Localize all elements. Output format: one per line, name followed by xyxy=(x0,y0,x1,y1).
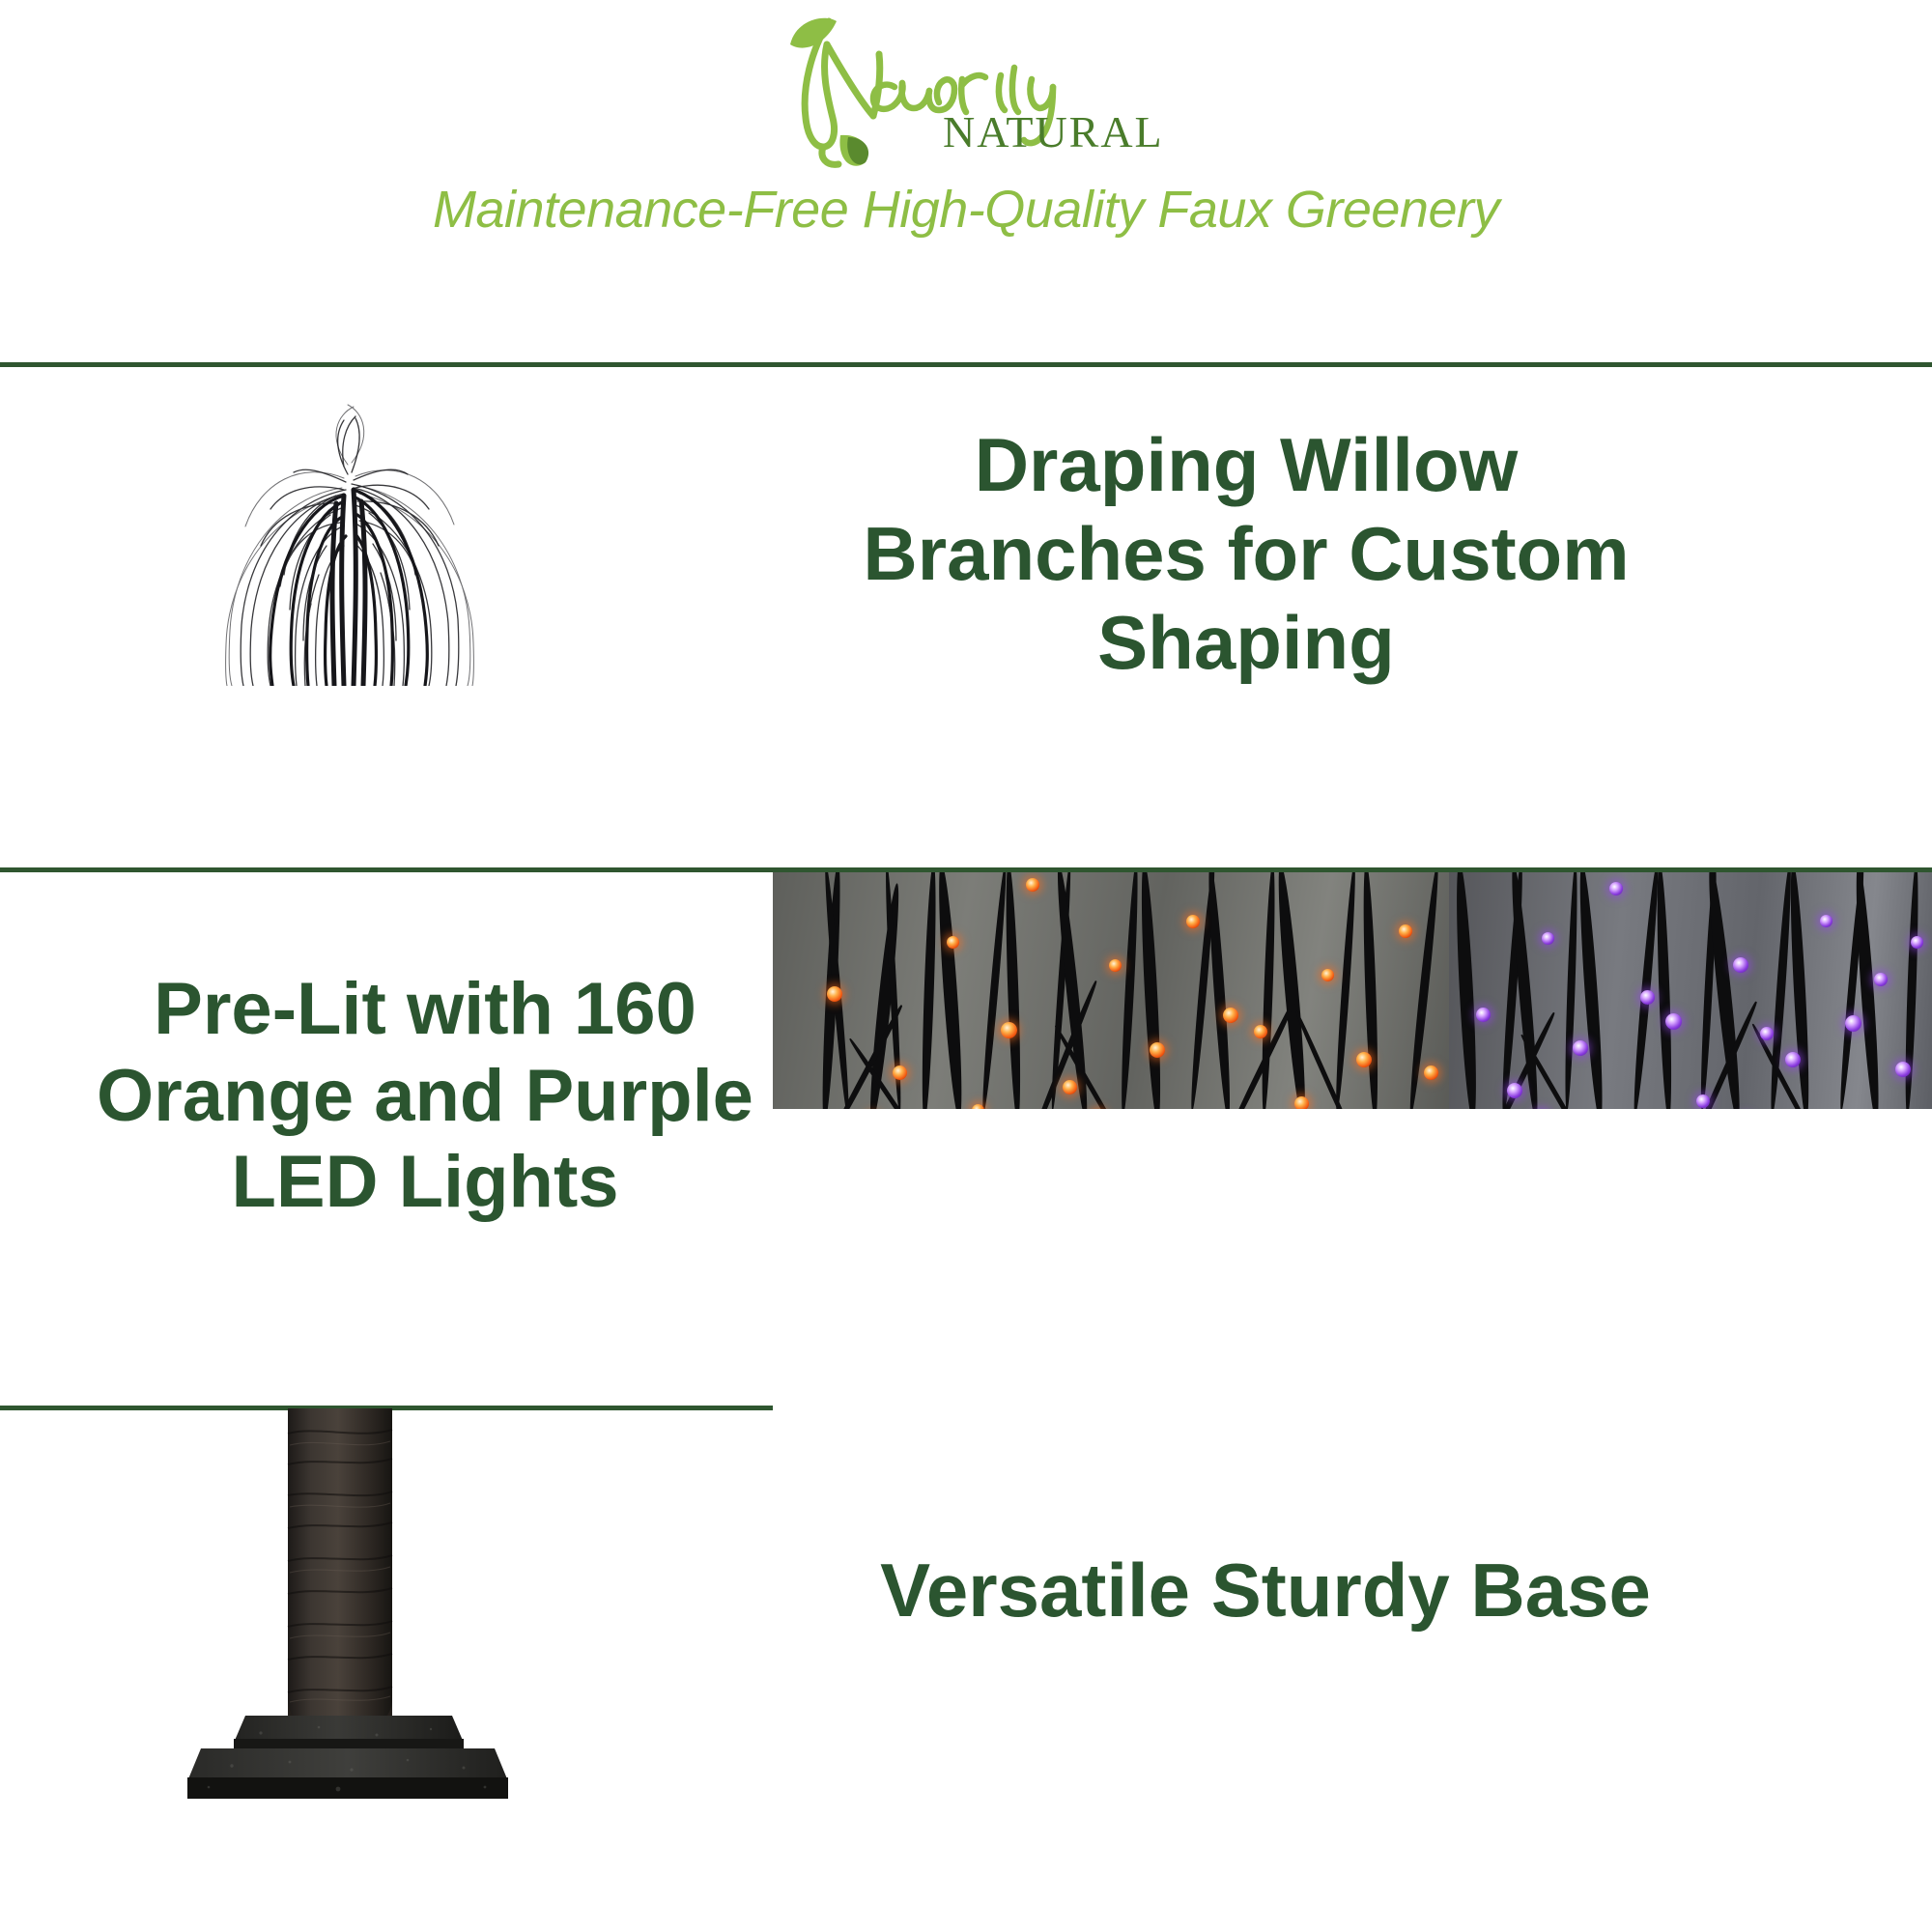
brand-logo: NATURAL xyxy=(0,4,1932,178)
tree-trunk-and-base-illustration xyxy=(145,1408,551,1814)
svg-text:NATURAL: NATURAL xyxy=(943,107,1159,156)
led-closeup-photo xyxy=(773,872,1932,1109)
led-photo-orange-half xyxy=(773,872,1449,1109)
nearly-natural-logo-icon: NATURAL xyxy=(773,12,1159,171)
feature-headline-draping-willow: Draping Willow Branches for Custom Shapi… xyxy=(811,420,1681,687)
header: NATURAL Maintenance-Free High-Quality Fa… xyxy=(0,0,1932,364)
willow-tree-canopy-illustration xyxy=(164,382,531,686)
feature-headline-sturdy-base: Versatile Sturdy Base xyxy=(831,1546,1700,1634)
brand-tagline: Maintenance-Free High-Quality Faux Green… xyxy=(0,180,1932,240)
section-divider-1 xyxy=(0,362,1932,367)
led-photo-purple-half xyxy=(1449,872,1932,1109)
feature-headline-pre-lit-leds: Pre-Lit with 160 Orange and Purple LED L… xyxy=(58,966,792,1226)
